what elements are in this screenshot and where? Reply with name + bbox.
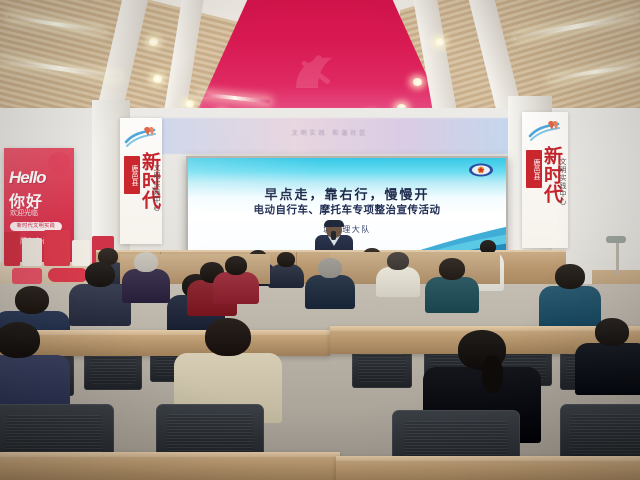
- audience-member-head: [225, 256, 247, 275]
- banner-seal-left: 鹿邑县: [124, 156, 140, 194]
- table-row: [336, 456, 640, 480]
- ceiling-downlight: [152, 75, 163, 83]
- wave-hand-icon: [124, 126, 158, 148]
- audience-member: [425, 258, 479, 316]
- hello-subtext: 欢迎光临: [10, 208, 38, 218]
- audience-member-head: [555, 264, 585, 289]
- audience-member-body: [376, 267, 420, 297]
- audience-member-hairtie: [482, 355, 502, 393]
- wall-decor-text: 文明实践 和谐社区: [150, 128, 510, 137]
- audience-member: [213, 256, 259, 307]
- ceiling-downlight: [148, 38, 159, 46]
- screen-subtitle: 电动自行车、摩托车专项整治宣传活动: [188, 202, 506, 217]
- police-badge-emblem: [468, 162, 494, 178]
- audience-member-head: [387, 252, 409, 270]
- audience-member: [268, 252, 304, 291]
- banner-subtext-left: 文明实践中心: [152, 164, 160, 212]
- pillar-banner-right: 鹿邑县 新时代 文明实践中心: [522, 112, 568, 248]
- audience-member-head: [277, 252, 295, 267]
- audience-member-body: [122, 269, 170, 303]
- audience-member-body: [268, 264, 304, 288]
- audience-member-head: [439, 258, 465, 280]
- display-item: [44, 230, 70, 266]
- audience-member-head: [134, 252, 158, 272]
- audience-member: [575, 318, 640, 398]
- audience-member: [122, 252, 170, 306]
- microphone-icon: [331, 231, 336, 240]
- audience-member-body: [575, 343, 640, 395]
- display-item: [22, 238, 42, 266]
- audience-member: [305, 258, 355, 312]
- pillar-banner-left: 鹿邑县 新时代 文明实践中心: [120, 118, 162, 244]
- desk-lamp-head: [606, 236, 626, 243]
- table-row: [0, 452, 340, 480]
- audience-member: [376, 252, 420, 300]
- decor-circle: [48, 152, 70, 174]
- speaker-cap: [324, 220, 344, 227]
- audience-member-head: [85, 262, 115, 287]
- audience-chair: [84, 350, 142, 390]
- audience-member-head: [205, 318, 251, 356]
- banner-seal-right: 鹿邑县: [526, 150, 542, 188]
- display-item: [12, 268, 42, 284]
- screen-main-title: 早点走，靠右行，慢慢开: [188, 184, 506, 203]
- audience-member-head: [318, 258, 342, 278]
- audience-member-head: [15, 286, 49, 314]
- audience-member-head: [595, 318, 629, 346]
- audience-member-head: [0, 322, 40, 358]
- audience-chair: [352, 348, 412, 388]
- desk-lamp-pole: [616, 240, 619, 274]
- audience-member-body: [213, 272, 259, 304]
- ceiling-downlight: [184, 100, 195, 108]
- wave-hand-icon: [528, 120, 562, 142]
- ceiling-downlight: [412, 78, 423, 86]
- ceiling-downlight: [434, 38, 445, 46]
- banner-subtext-right: 文明实践中心: [558, 158, 566, 206]
- audience-member-body: [425, 277, 479, 313]
- display-item: [4, 232, 20, 266]
- meeting-room-photo: 文明实践 和谐社区 鹿邑县 新时代 文明实践中心 鹿邑县 新时代 文明实践中心 …: [0, 0, 640, 480]
- hello-english-text: Hello: [9, 168, 46, 188]
- hammer-sickle-emblem: [278, 48, 362, 100]
- wall-decor-band: 文明实践 和谐社区: [150, 118, 510, 154]
- audience-member-body: [305, 275, 355, 309]
